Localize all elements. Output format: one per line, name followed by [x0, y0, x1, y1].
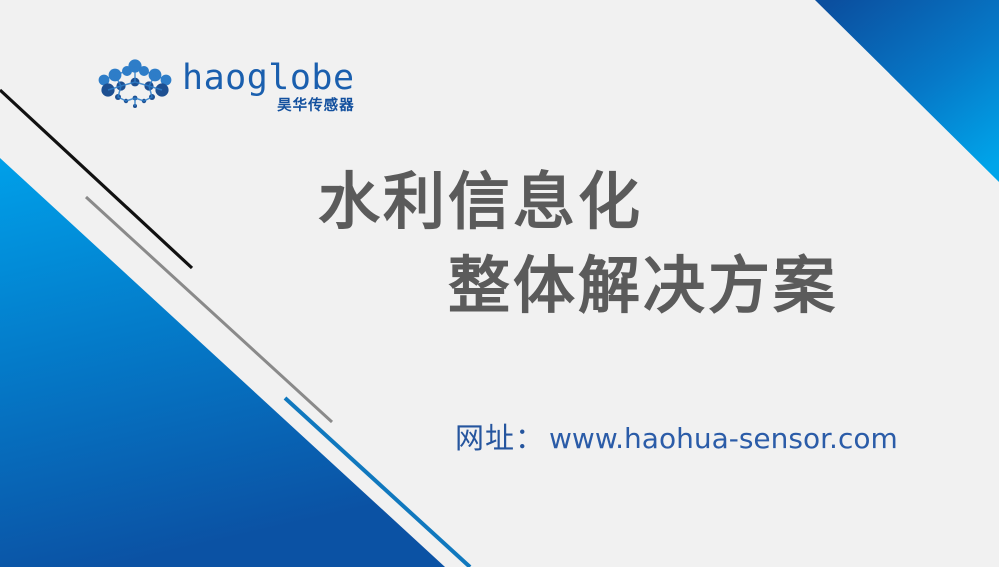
website-url[interactable]: www.haohua-sensor.com — [549, 421, 898, 457]
page-title: 水利信息化 整体解决方案 — [0, 160, 999, 328]
website-label: 网址： — [455, 420, 545, 456]
website-line: 网址： www.haohua-sensor.com — [455, 420, 898, 457]
company-logo: haoglobe 昊华传感器 — [96, 58, 355, 114]
logo-wordmark: haoglobe — [182, 60, 355, 96]
logo-text-group: haoglobe 昊华传感器 — [182, 58, 355, 114]
page-title-line-2: 整体解决方案 — [0, 244, 999, 328]
page-title-line-1: 水利信息化 — [0, 160, 999, 244]
haoglobe-network-nodes-logo-icon — [96, 58, 174, 112]
presentation-title-slide: haoglobe 昊华传感器 水利信息化 整体解决方案 网址： www.haoh… — [0, 0, 999, 567]
logo-subtitle: 昊华传感器 — [277, 98, 355, 114]
